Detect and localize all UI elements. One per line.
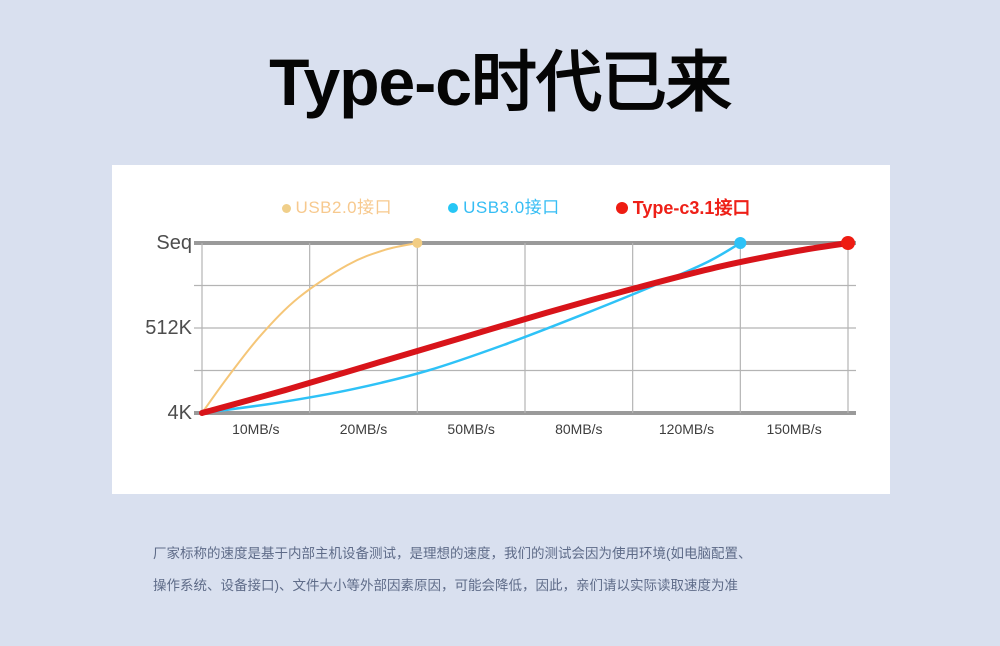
caption-line-2: 操作系统、设备接口)、文件大小等外部因素原因，可能会降低，因此，亲们请以实际读取… <box>153 570 853 602</box>
legend-label-usb20: USB2.0接口 <box>296 198 393 218</box>
legend-item-typec[interactable]: Type-c3.1接口 <box>616 198 751 218</box>
legend-item-usb30[interactable]: USB3.0接口 <box>448 198 560 218</box>
legend-label-typec: Type-c3.1接口 <box>633 198 751 218</box>
legend-label-usb30: USB3.0接口 <box>463 198 560 218</box>
plot-area <box>202 243 848 413</box>
chart-legend: USB2.0接口 USB3.0接口 Type-c3.1接口 <box>112 198 890 218</box>
x-tick-label-2: 50MB/s <box>447 419 494 439</box>
chart-plot-svg <box>202 243 848 413</box>
x-tick-label-1: 20MB/s <box>340 419 387 439</box>
caption-line-1: 厂家标称的速度是基于内部主机设备测试，是理想的速度，我们的测试会因为使用环境(如… <box>153 538 853 570</box>
legend-dot-icon-usb30 <box>448 203 458 213</box>
y-axis-labels: Seq512K4K <box>112 165 192 494</box>
legend-dot-icon-usb20 <box>282 204 291 213</box>
x-axis-labels: 10MB/s20MB/s50MB/s80MB/s120MB/s150MB/s <box>202 419 848 443</box>
x-tick-label-5: 150MB/s <box>767 419 822 439</box>
caption-text: 厂家标称的速度是基于内部主机设备测试，是理想的速度，我们的测试会因为使用环境(如… <box>153 538 853 602</box>
y-tick-label-0: Seq <box>156 232 192 254</box>
x-tick-label-4: 120MB/s <box>659 419 714 439</box>
series-end-marker-0 <box>412 238 422 248</box>
x-tick-label-0: 10MB/s <box>232 419 279 439</box>
page-title: Type-c时代已来 <box>0 42 1000 122</box>
series-end-marker-1 <box>734 237 746 249</box>
chart-card: USB2.0接口 USB3.0接口 Type-c3.1接口 Seq512K4K … <box>112 165 890 494</box>
legend-item-usb20[interactable]: USB2.0接口 <box>282 198 393 218</box>
series-end-marker-2 <box>841 236 855 250</box>
x-tick-label-3: 80MB/s <box>555 419 602 439</box>
y-tick-label-1: 512K <box>145 317 192 339</box>
y-tick-label-2: 4K <box>168 402 192 424</box>
legend-dot-icon-typec <box>616 202 628 214</box>
